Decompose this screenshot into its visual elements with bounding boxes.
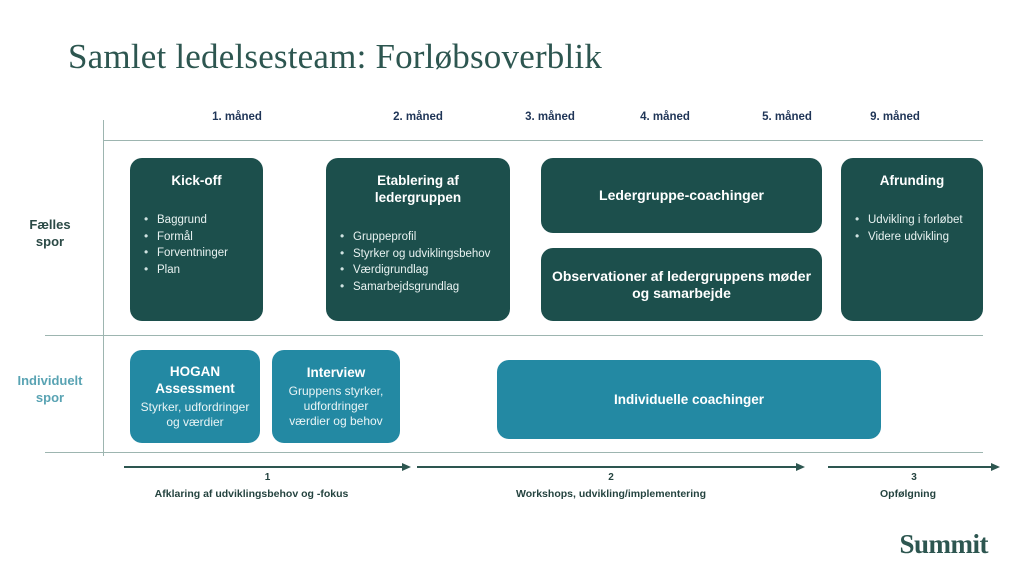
row-label-shared-line2: spor <box>2 233 98 250</box>
shared-card-2-bullet-list: GruppeprofilStyrker og udviklingsbehovVæ… <box>340 230 510 295</box>
bullet-item: Samarbejdsgrundlag <box>340 280 502 296</box>
row-label-individual-track: Individuelt spor <box>2 372 98 406</box>
divider-middle <box>45 335 983 336</box>
arrow-right-icon <box>796 463 805 471</box>
row-label-shared-track: Fælles spor <box>2 216 98 250</box>
individual-card-3-title: Individuelle coachinger <box>614 391 764 408</box>
shared-card-5-bullet-list: Udvikling i forløbetVidere udvikling <box>855 213 983 245</box>
month-label-6: 9. måned <box>870 111 920 123</box>
phase-arrow-line-icon <box>828 466 991 468</box>
phase-3-label: Opfølgning <box>828 487 988 501</box>
phase-2-label: Workshops, udvikling/implementering <box>417 487 805 501</box>
row-label-shared-line1: Fælles <box>2 216 98 233</box>
shared-card-5[interactable]: AfrundingUdvikling i forløbetVidere udvi… <box>841 158 983 321</box>
bullet-item: Plan <box>144 263 255 279</box>
shared-card-3-title: Ledergruppe-coachinger <box>599 187 764 204</box>
shared-card-5-title: Afrunding <box>841 172 983 189</box>
timeline-axis <box>103 120 104 456</box>
row-label-individual-line1: Individuelt <box>2 372 98 389</box>
shared-card-3[interactable]: Ledergruppe-coachinger <box>541 158 822 233</box>
individual-card-2-title: Interview <box>307 364 366 381</box>
month-label-2: 2. måned <box>393 111 443 123</box>
shared-card-4-body: Observationer af ledergruppens møder og … <box>541 248 822 321</box>
shared-card-2-title: Etablering af ledergruppen <box>326 172 510 206</box>
phase-1-label: Afklaring af udviklingsbehov og -fokus <box>124 487 379 501</box>
bullet-item: Baggrund <box>144 213 255 229</box>
bullet-item: Gruppeprofil <box>340 230 502 246</box>
bullet-item: Styrker og udviklingsbehov <box>340 247 502 263</box>
phase-arrow-line-icon <box>417 466 796 468</box>
shared-card-1-bullet-list: BaggrundFormålForventningerPlan <box>144 213 263 278</box>
bullet-item: Forventninger <box>144 246 255 262</box>
individual-card-2-subtitle: Gruppens styrker, udfordringer værdier o… <box>282 384 390 429</box>
individual-card-2-body: InterviewGruppens styrker, udfordringer … <box>272 350 400 443</box>
shared-card-1-title: Kick-off <box>130 172 263 189</box>
bullet-item: Formål <box>144 230 255 246</box>
individual-card-1-body: HOGAN AssessmentStyrker, udfordringer og… <box>130 350 260 443</box>
individual-card-2[interactable]: InterviewGruppens styrker, udfordringer … <box>272 350 400 443</box>
row-label-individual-line2: spor <box>2 389 98 406</box>
bullet-item: Værdigrundlag <box>340 263 502 279</box>
bullet-item: Videre udvikling <box>855 230 975 246</box>
individual-card-3[interactable]: Individuelle coachinger <box>497 360 881 439</box>
divider-bottom <box>45 452 983 453</box>
summit-logo: Summit <box>899 529 988 560</box>
arrow-right-icon <box>991 463 1000 471</box>
phase-3-number: 3 <box>828 472 1000 483</box>
phase-1-number: 1 <box>124 472 411 483</box>
shared-card-4-title: Observationer af ledergruppens møder og … <box>551 268 812 302</box>
shared-card-1[interactable]: Kick-offBaggrundFormålForventningerPlan <box>130 158 263 321</box>
month-label-5: 5. måned <box>762 111 812 123</box>
page-title: Samlet ledelsesteam: Forløbsoverblik <box>68 36 602 78</box>
month-label-1: 1. måned <box>212 111 262 123</box>
phase-arrow-line-icon <box>124 466 402 468</box>
shared-card-3-body: Ledergruppe-coachinger <box>541 158 822 233</box>
individual-card-1[interactable]: HOGAN AssessmentStyrker, udfordringer og… <box>130 350 260 443</box>
individual-card-1-subtitle: Styrker, udfordringer og værdier <box>140 400 250 430</box>
shared-card-4[interactable]: Observationer af ledergruppens møder og … <box>541 248 822 321</box>
slide-canvas: Samlet ledelsesteam: Forløbsoverblik 1. … <box>0 0 1024 576</box>
month-label-3: 3. måned <box>525 111 575 123</box>
divider-top <box>103 140 983 141</box>
phase-2-number: 2 <box>417 472 805 483</box>
individual-card-1-title: HOGAN Assessment <box>140 363 250 397</box>
arrow-right-icon <box>402 463 411 471</box>
month-label-4: 4. måned <box>640 111 690 123</box>
bullet-item: Udvikling i forløbet <box>855 213 975 229</box>
individual-card-3-body: Individuelle coachinger <box>497 360 881 439</box>
shared-card-2[interactable]: Etablering af ledergruppenGruppeprofilSt… <box>326 158 510 321</box>
